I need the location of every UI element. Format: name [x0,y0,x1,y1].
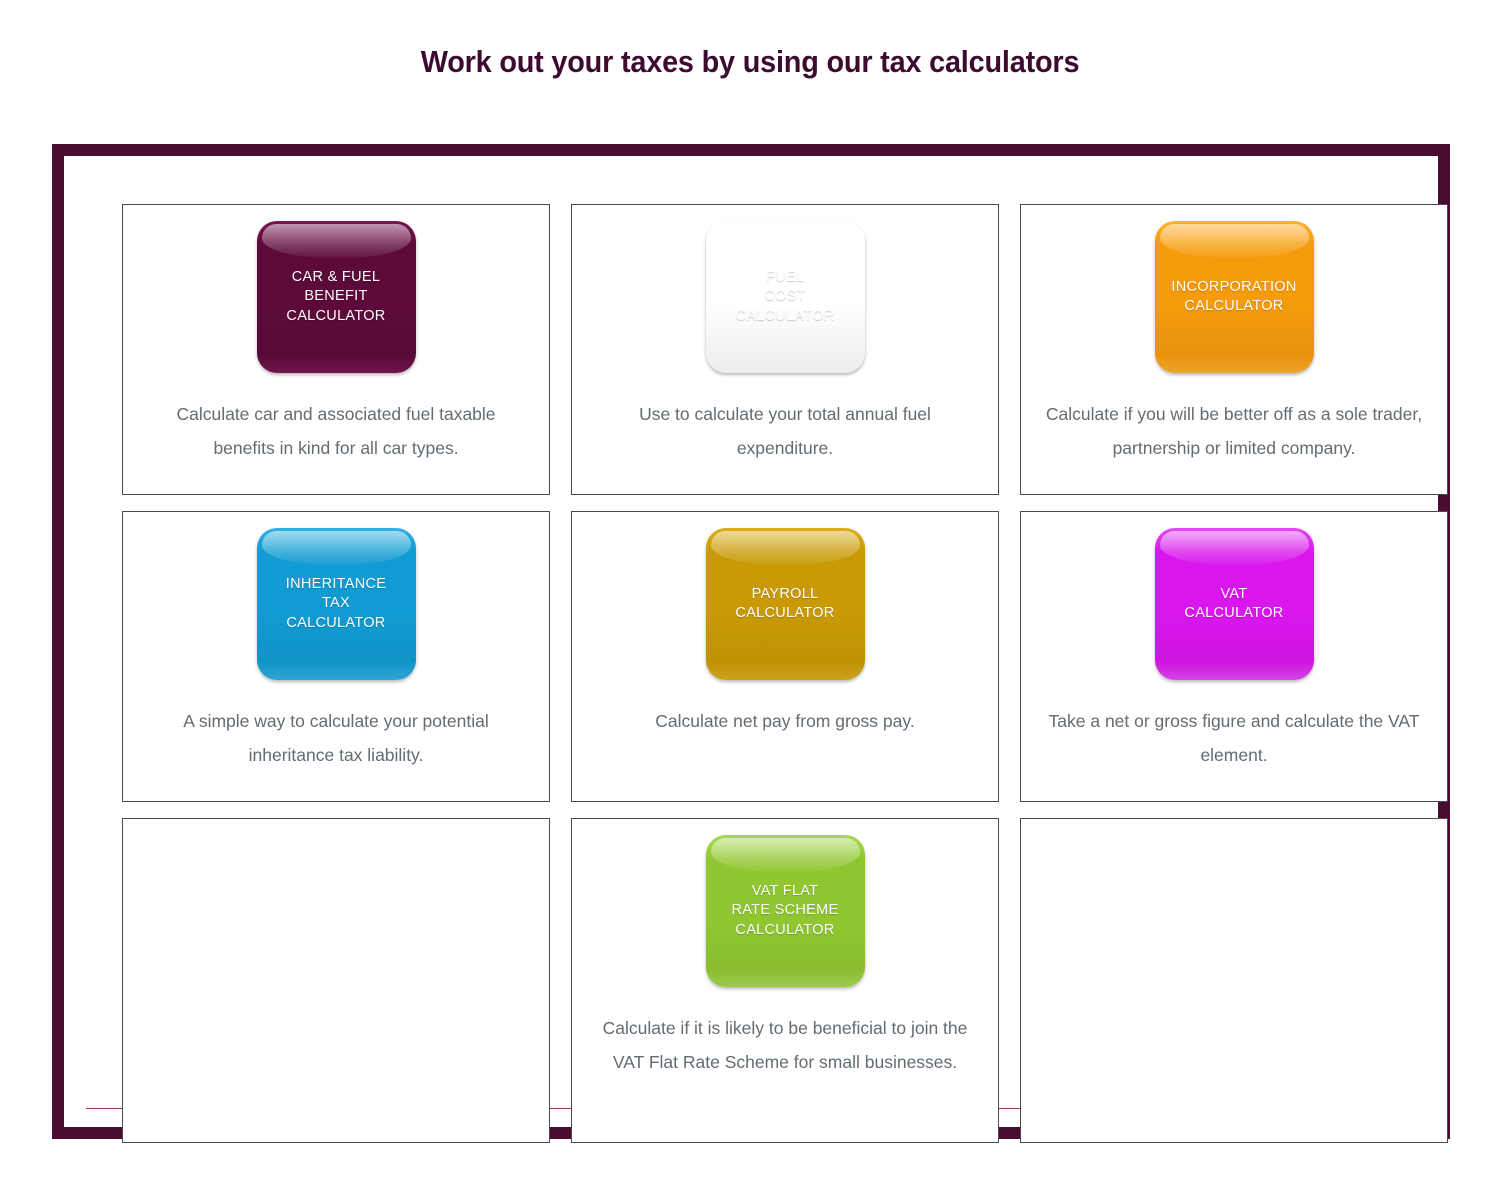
calculator-cell-vat-flat-rate-scheme: VAT FLAT RATE SCHEME CALCULATORCalculate… [571,818,999,1143]
calculator-button-vat-flat-rate-scheme[interactable]: VAT FLAT RATE SCHEME CALCULATOR [706,835,865,987]
calculator-button-label: INHERITANCE TAX CALCULATOR [282,575,391,632]
calculator-cell-incorporation: INCORPORATION CALCULATORCalculate if you… [1020,204,1448,495]
calculator-cell-inheritance-tax: INHERITANCE TAX CALCULATORA simple way t… [122,511,550,802]
calculator-grid: CAR & FUEL BENEFIT CALCULATORCalculate c… [122,204,1448,1143]
calculator-button-vat[interactable]: VAT CALCULATOR [1155,528,1314,680]
calculator-button-label: FUEL COST CALCULATOR [731,268,838,325]
calculator-frame: CAR & FUEL BENEFIT CALCULATORCalculate c… [52,144,1450,1139]
page-title: Work out your taxes by using our tax cal… [53,44,1448,80]
calculator-cell-vat: VAT CALCULATORTake a net or gross figure… [1020,511,1448,802]
calculator-description: Calculate net pay from gross pay. [593,704,977,738]
calculator-button-label: INCORPORATION CALCULATOR [1167,278,1300,316]
calculator-button-incorporation[interactable]: INCORPORATION CALCULATOR [1155,221,1314,373]
calculator-cell-empty-bottom-right [1020,818,1448,1143]
calculator-button-label: CAR & FUEL BENEFIT CALCULATOR [282,268,389,325]
calculator-button-label: VAT FLAT RATE SCHEME CALCULATOR [728,882,843,939]
calculator-button-inheritance-tax[interactable]: INHERITANCE TAX CALCULATOR [257,528,416,680]
calculator-button-car-fuel-benefit[interactable]: CAR & FUEL BENEFIT CALCULATOR [257,221,416,373]
calculator-cell-empty-bottom-left [122,818,550,1143]
page-root: Work out your taxes by using our tax cal… [0,0,1500,1182]
calculator-cell-payroll: PAYROLL CALCULATORCalculate net pay from… [571,511,999,802]
calculator-button-fuel-cost[interactable]: FUEL COST CALCULATOR [706,221,865,373]
calculator-description: Calculate if it is likely to be benefici… [593,1011,977,1079]
calculator-button-payroll[interactable]: PAYROLL CALCULATOR [706,528,865,680]
calculator-description: A simple way to calculate your potential… [144,704,528,772]
calculator-cell-car-fuel-benefit: CAR & FUEL BENEFIT CALCULATORCalculate c… [122,204,550,495]
calculator-cell-fuel-cost: FUEL COST CALCULATORUse to calculate you… [571,204,999,495]
calculator-description: Calculate car and associated fuel taxabl… [144,397,528,465]
calculator-description: Calculate if you will be better off as a… [1042,397,1426,465]
calculator-button-label: VAT CALCULATOR [1180,585,1287,623]
calculator-description: Take a net or gross figure and calculate… [1042,704,1426,772]
calculator-button-label: PAYROLL CALCULATOR [731,585,838,623]
calculator-frame-inner: CAR & FUEL BENEFIT CALCULATORCalculate c… [86,174,1416,1109]
calculator-description: Use to calculate your total annual fuel … [593,397,977,465]
